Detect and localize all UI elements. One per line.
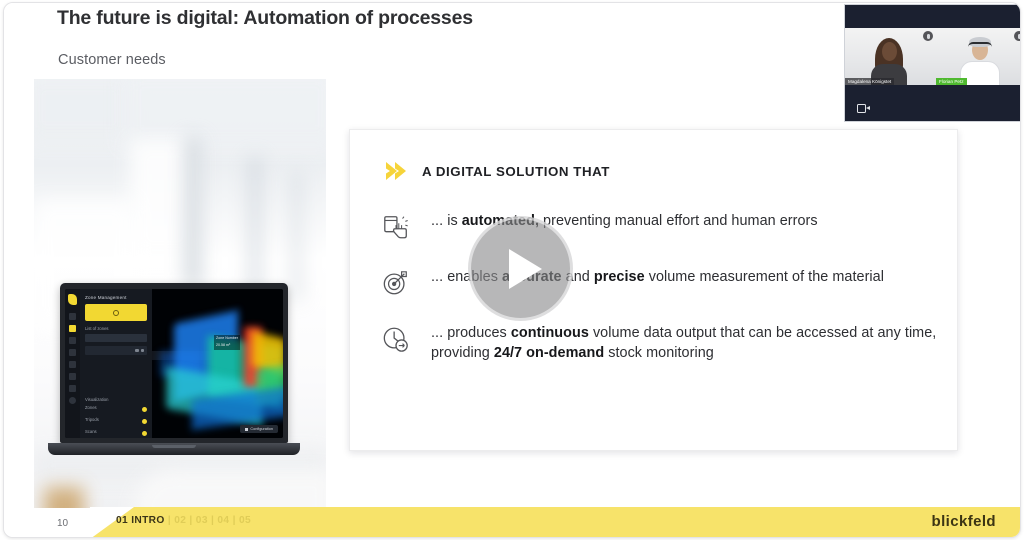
- laptop-lid: Zone Management List of zones: [60, 283, 288, 443]
- app-zone-panel: Zone Management List of zones: [80, 289, 152, 438]
- app-visualization-group: Visualization Zones Tripods: [85, 397, 147, 437]
- bullet-item: ... enables accurate and precise volume …: [382, 268, 942, 297]
- app-visualization-label: Visualization: [85, 397, 147, 402]
- mute-badge: [923, 31, 933, 41]
- app-panel-title: Zone Management: [85, 295, 147, 300]
- player-frame: The future is digital: Automation of pro…: [3, 2, 1021, 538]
- rail-icon-scans: [69, 349, 76, 356]
- play-icon: [509, 249, 542, 289]
- content-card: A DIGITAL SOLUTION THAT ... is automated…: [349, 129, 958, 451]
- chevron-right-icon: [382, 158, 408, 184]
- participant-name: Magdalena Königstet: [845, 78, 894, 85]
- rail-icon-dashboard: [69, 313, 76, 320]
- mute-badge: [1014, 31, 1021, 41]
- app-configuration-label: Configuration: [250, 427, 273, 431]
- pointcloud-tag-value: 20.58 m³: [214, 342, 240, 349]
- video-tile-participant-2[interactable]: Florian Petz: [936, 28, 1021, 85]
- slide-photo: Zone Management List of zones: [34, 79, 326, 508]
- video-call-toolbar: [845, 95, 1021, 121]
- bullet-text: ... produces continuous volume data outp…: [431, 324, 942, 363]
- slide-page-number: 10: [57, 518, 68, 529]
- video-tiles: Magdalena Königstet Florian Petz: [845, 28, 1021, 85]
- slide-player: The future is digital: Automation of pro…: [0, 0, 1024, 540]
- slide-title: The future is digital: Automation of pro…: [57, 7, 473, 30]
- toggle-icon: [142, 431, 147, 436]
- pointcloud-measurement-tag: Zone Number 20.58 m³: [214, 335, 240, 350]
- rail-icon-devices: [69, 337, 76, 344]
- rail-icon-zones: [69, 325, 76, 332]
- slide-footer-nav-separator: |: [165, 515, 175, 526]
- video-call-panel[interactable]: Magdalena Königstet Florian Petz: [844, 4, 1021, 122]
- edit-icon: [135, 349, 139, 353]
- microphone-muted-icon: [1018, 34, 1021, 39]
- app-sidebar-rail: [65, 289, 80, 438]
- slide-footer-nav-active: 01 INTRO: [116, 515, 165, 526]
- card-heading-label: A DIGITAL SOLUTION THAT: [422, 164, 610, 179]
- slide-footer-nav-rest: 02 | 03 | 04 | 05: [174, 515, 251, 526]
- add-zone-icon: [113, 310, 119, 316]
- target-bullseye-icon: [382, 269, 410, 297]
- rail-icon-alerts: [69, 373, 76, 380]
- app-toggle-tripods: Tripods: [85, 417, 147, 425]
- toggle-icon: [142, 407, 147, 412]
- laptop-screen: Zone Management List of zones: [65, 289, 283, 438]
- video-tile-participant-1[interactable]: Magdalena Königstet: [845, 28, 936, 85]
- app-zone-row: [85, 346, 147, 355]
- app-toggle-zones: Zones: [85, 405, 147, 413]
- app-toggle-label-tripods: Tripods: [85, 417, 99, 422]
- app-configuration-button: Configuration: [240, 425, 278, 433]
- participant-name: Florian Petz: [936, 78, 967, 85]
- app-toggle-scans: Scans: [85, 429, 147, 437]
- hand-touch-icon: [382, 213, 410, 241]
- pointcloud-tag-title: Zone Number: [214, 335, 240, 342]
- blickfeld-logo-icon: [68, 294, 77, 305]
- app-list-label: List of zones: [85, 326, 147, 331]
- rail-icon-help: [69, 397, 76, 404]
- laptop-mockup: Zone Management List of zones: [48, 283, 300, 479]
- gear-icon: [245, 428, 248, 431]
- rail-icon-reports: [69, 361, 76, 368]
- clock-continuous-icon: [382, 325, 410, 353]
- card-heading: A DIGITAL SOLUTION THAT: [382, 158, 610, 184]
- app-toggle-label-zones: Zones: [85, 405, 97, 410]
- camera-icon[interactable]: [857, 104, 870, 113]
- microphone-muted-icon: [927, 34, 930, 39]
- app-toggle-label-scans: Scans: [85, 429, 97, 434]
- brand-logo: blickfeld: [932, 513, 996, 530]
- play-button[interactable]: [468, 216, 573, 321]
- delete-icon: [141, 349, 145, 353]
- slide-footer-nav: 01 INTRO | 02 | 03 | 04 | 05: [116, 515, 251, 526]
- bullet-item: ... is automated, preventing manual effo…: [382, 212, 942, 241]
- bullet-item: ... produces continuous volume data outp…: [382, 324, 942, 363]
- app-search-field: [85, 334, 147, 342]
- rail-icon-settings: [69, 385, 76, 392]
- app-primary-button: [85, 304, 147, 321]
- laptop-notch: [152, 445, 196, 448]
- slide-subtitle: Customer needs: [58, 52, 166, 68]
- app-pointcloud-view: Zone Number 20.58 m³ Configuration: [152, 289, 283, 438]
- toggle-icon: [142, 419, 147, 424]
- bullet-list: ... is automated, preventing manual effo…: [382, 212, 942, 390]
